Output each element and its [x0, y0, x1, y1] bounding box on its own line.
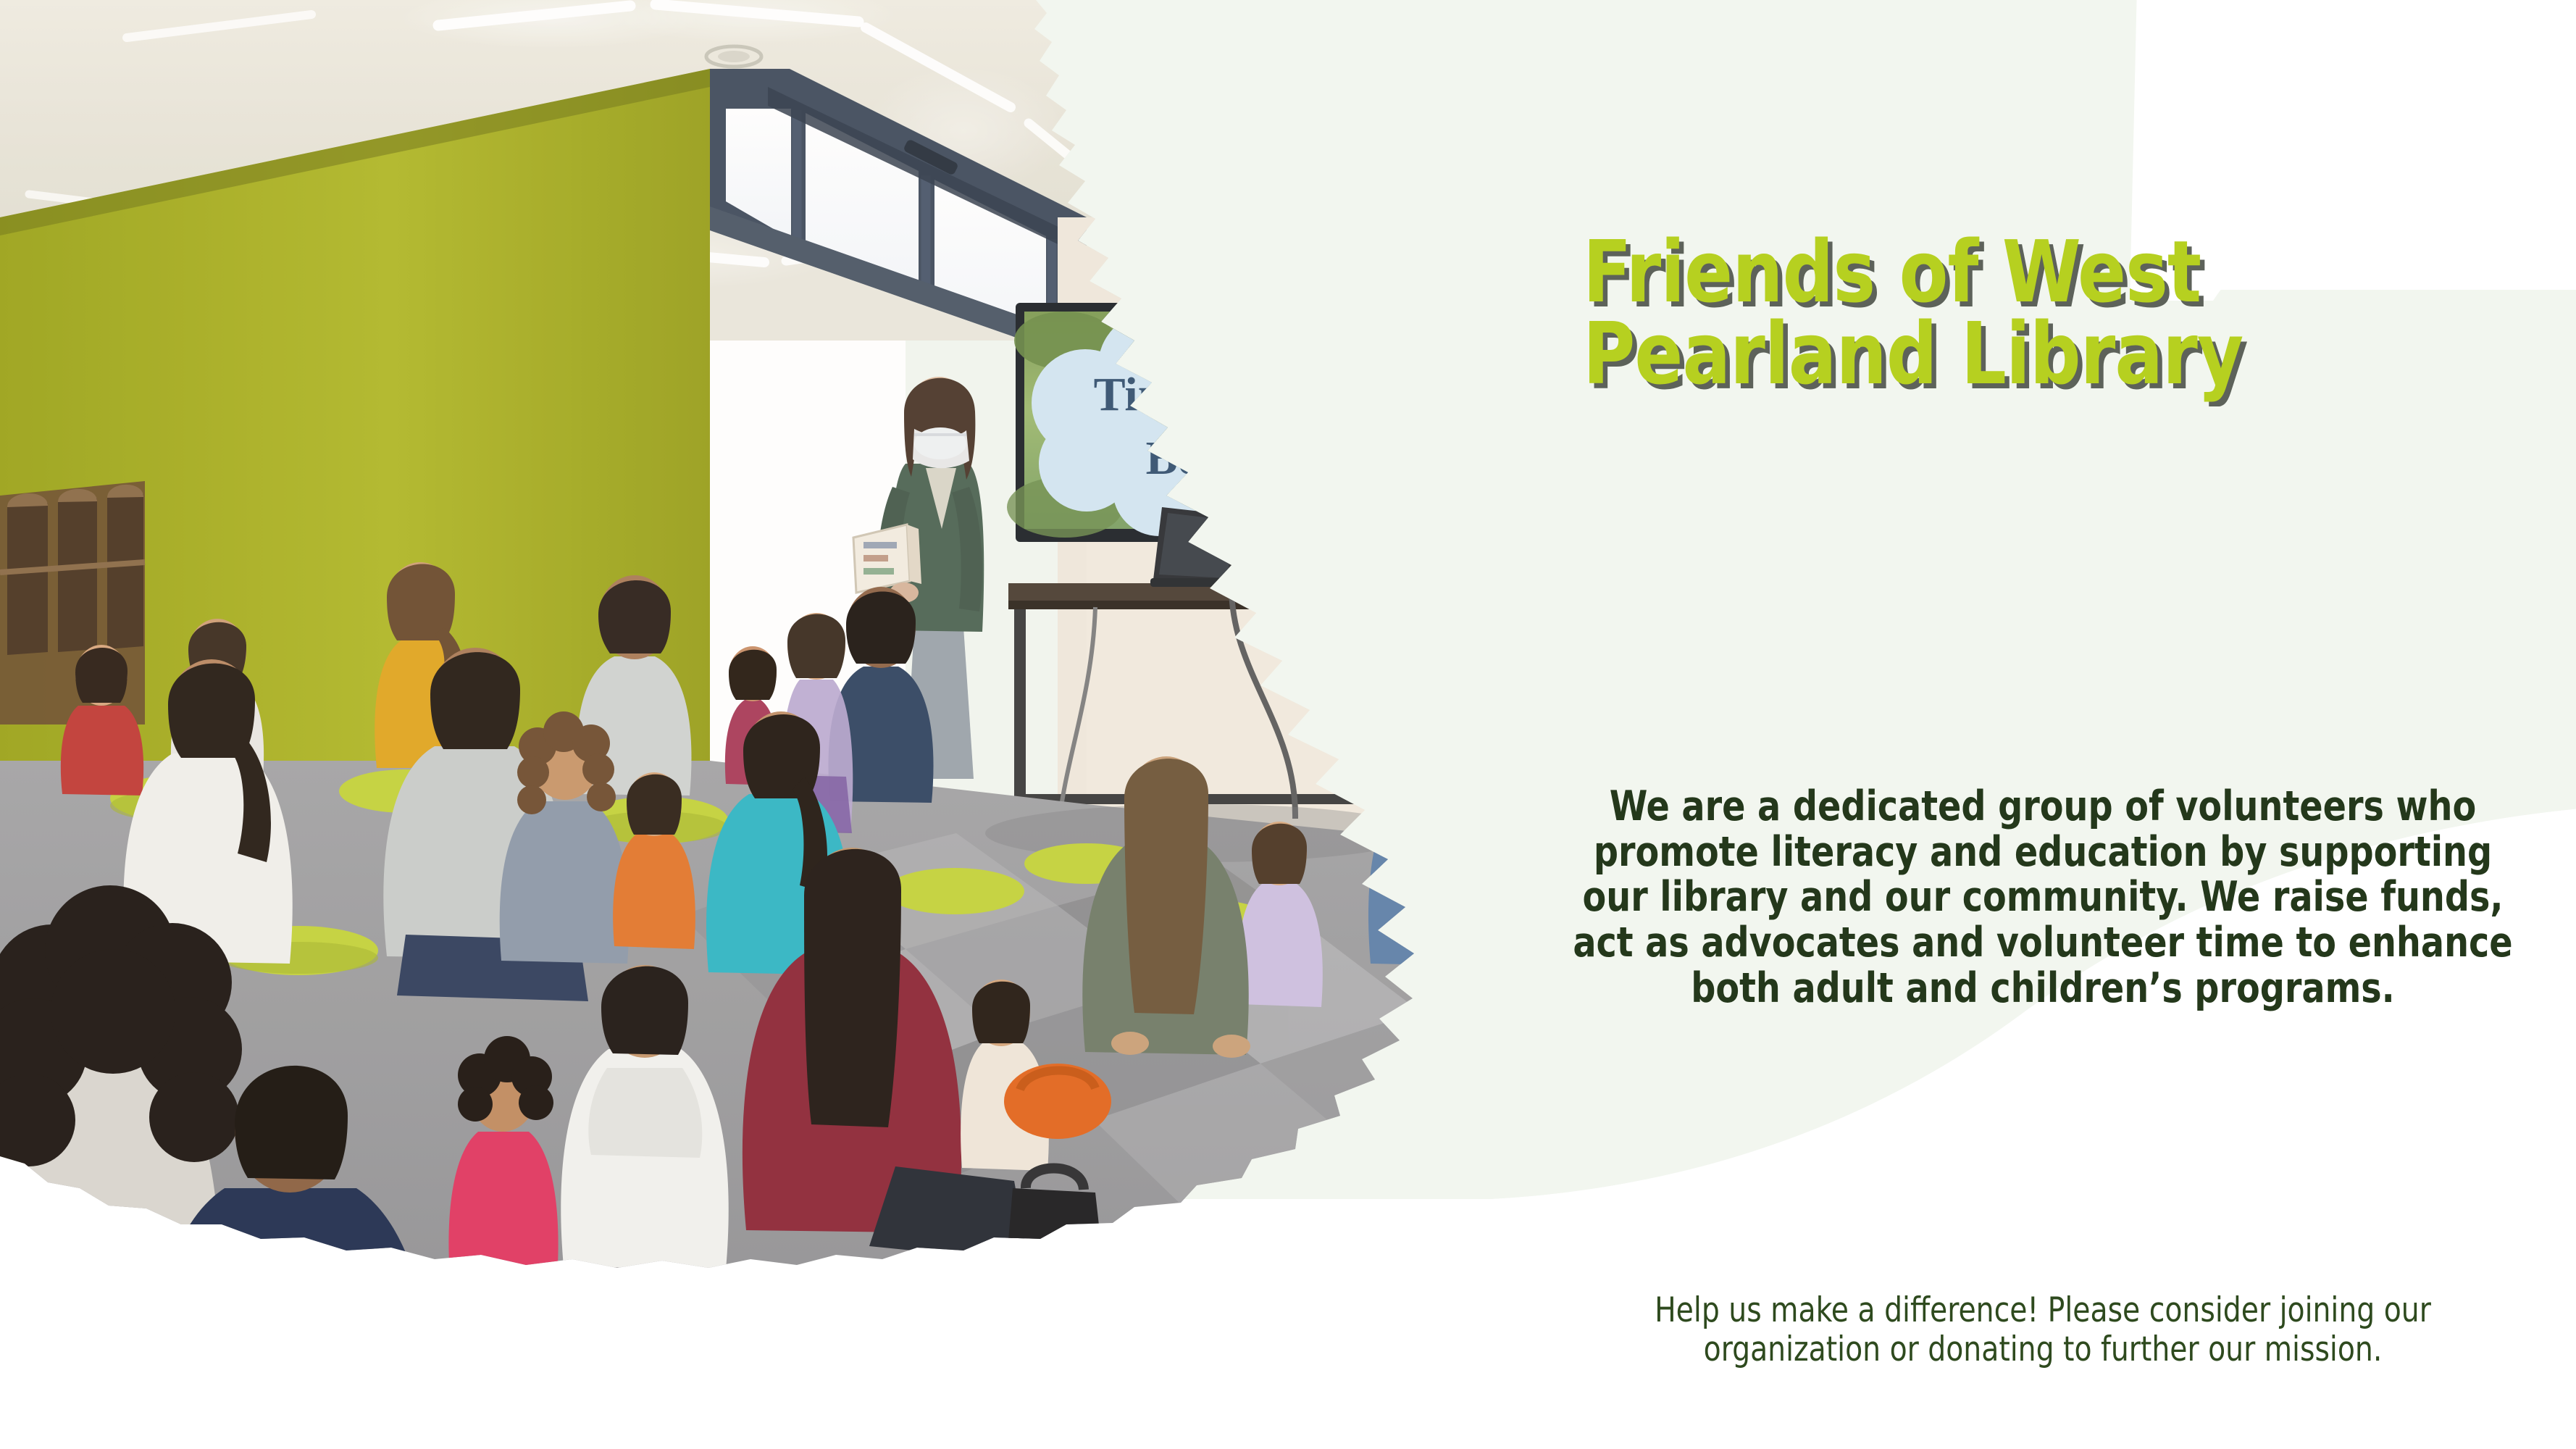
- page-title: Friends of West Pearland Library: [1583, 231, 2338, 396]
- text-column: Friends of West Pearland Library We are …: [1514, 0, 2576, 1449]
- call-to-action-text: Help us make a difference! Please consid…: [1571, 1291, 2514, 1369]
- slide-canvas: Time For a Book!: [0, 0, 2576, 1449]
- mission-statement: We are a dedicated group of volunteers w…: [1571, 784, 2514, 1011]
- library-storytime-photo: Time For a Book!: [0, 0, 1579, 1449]
